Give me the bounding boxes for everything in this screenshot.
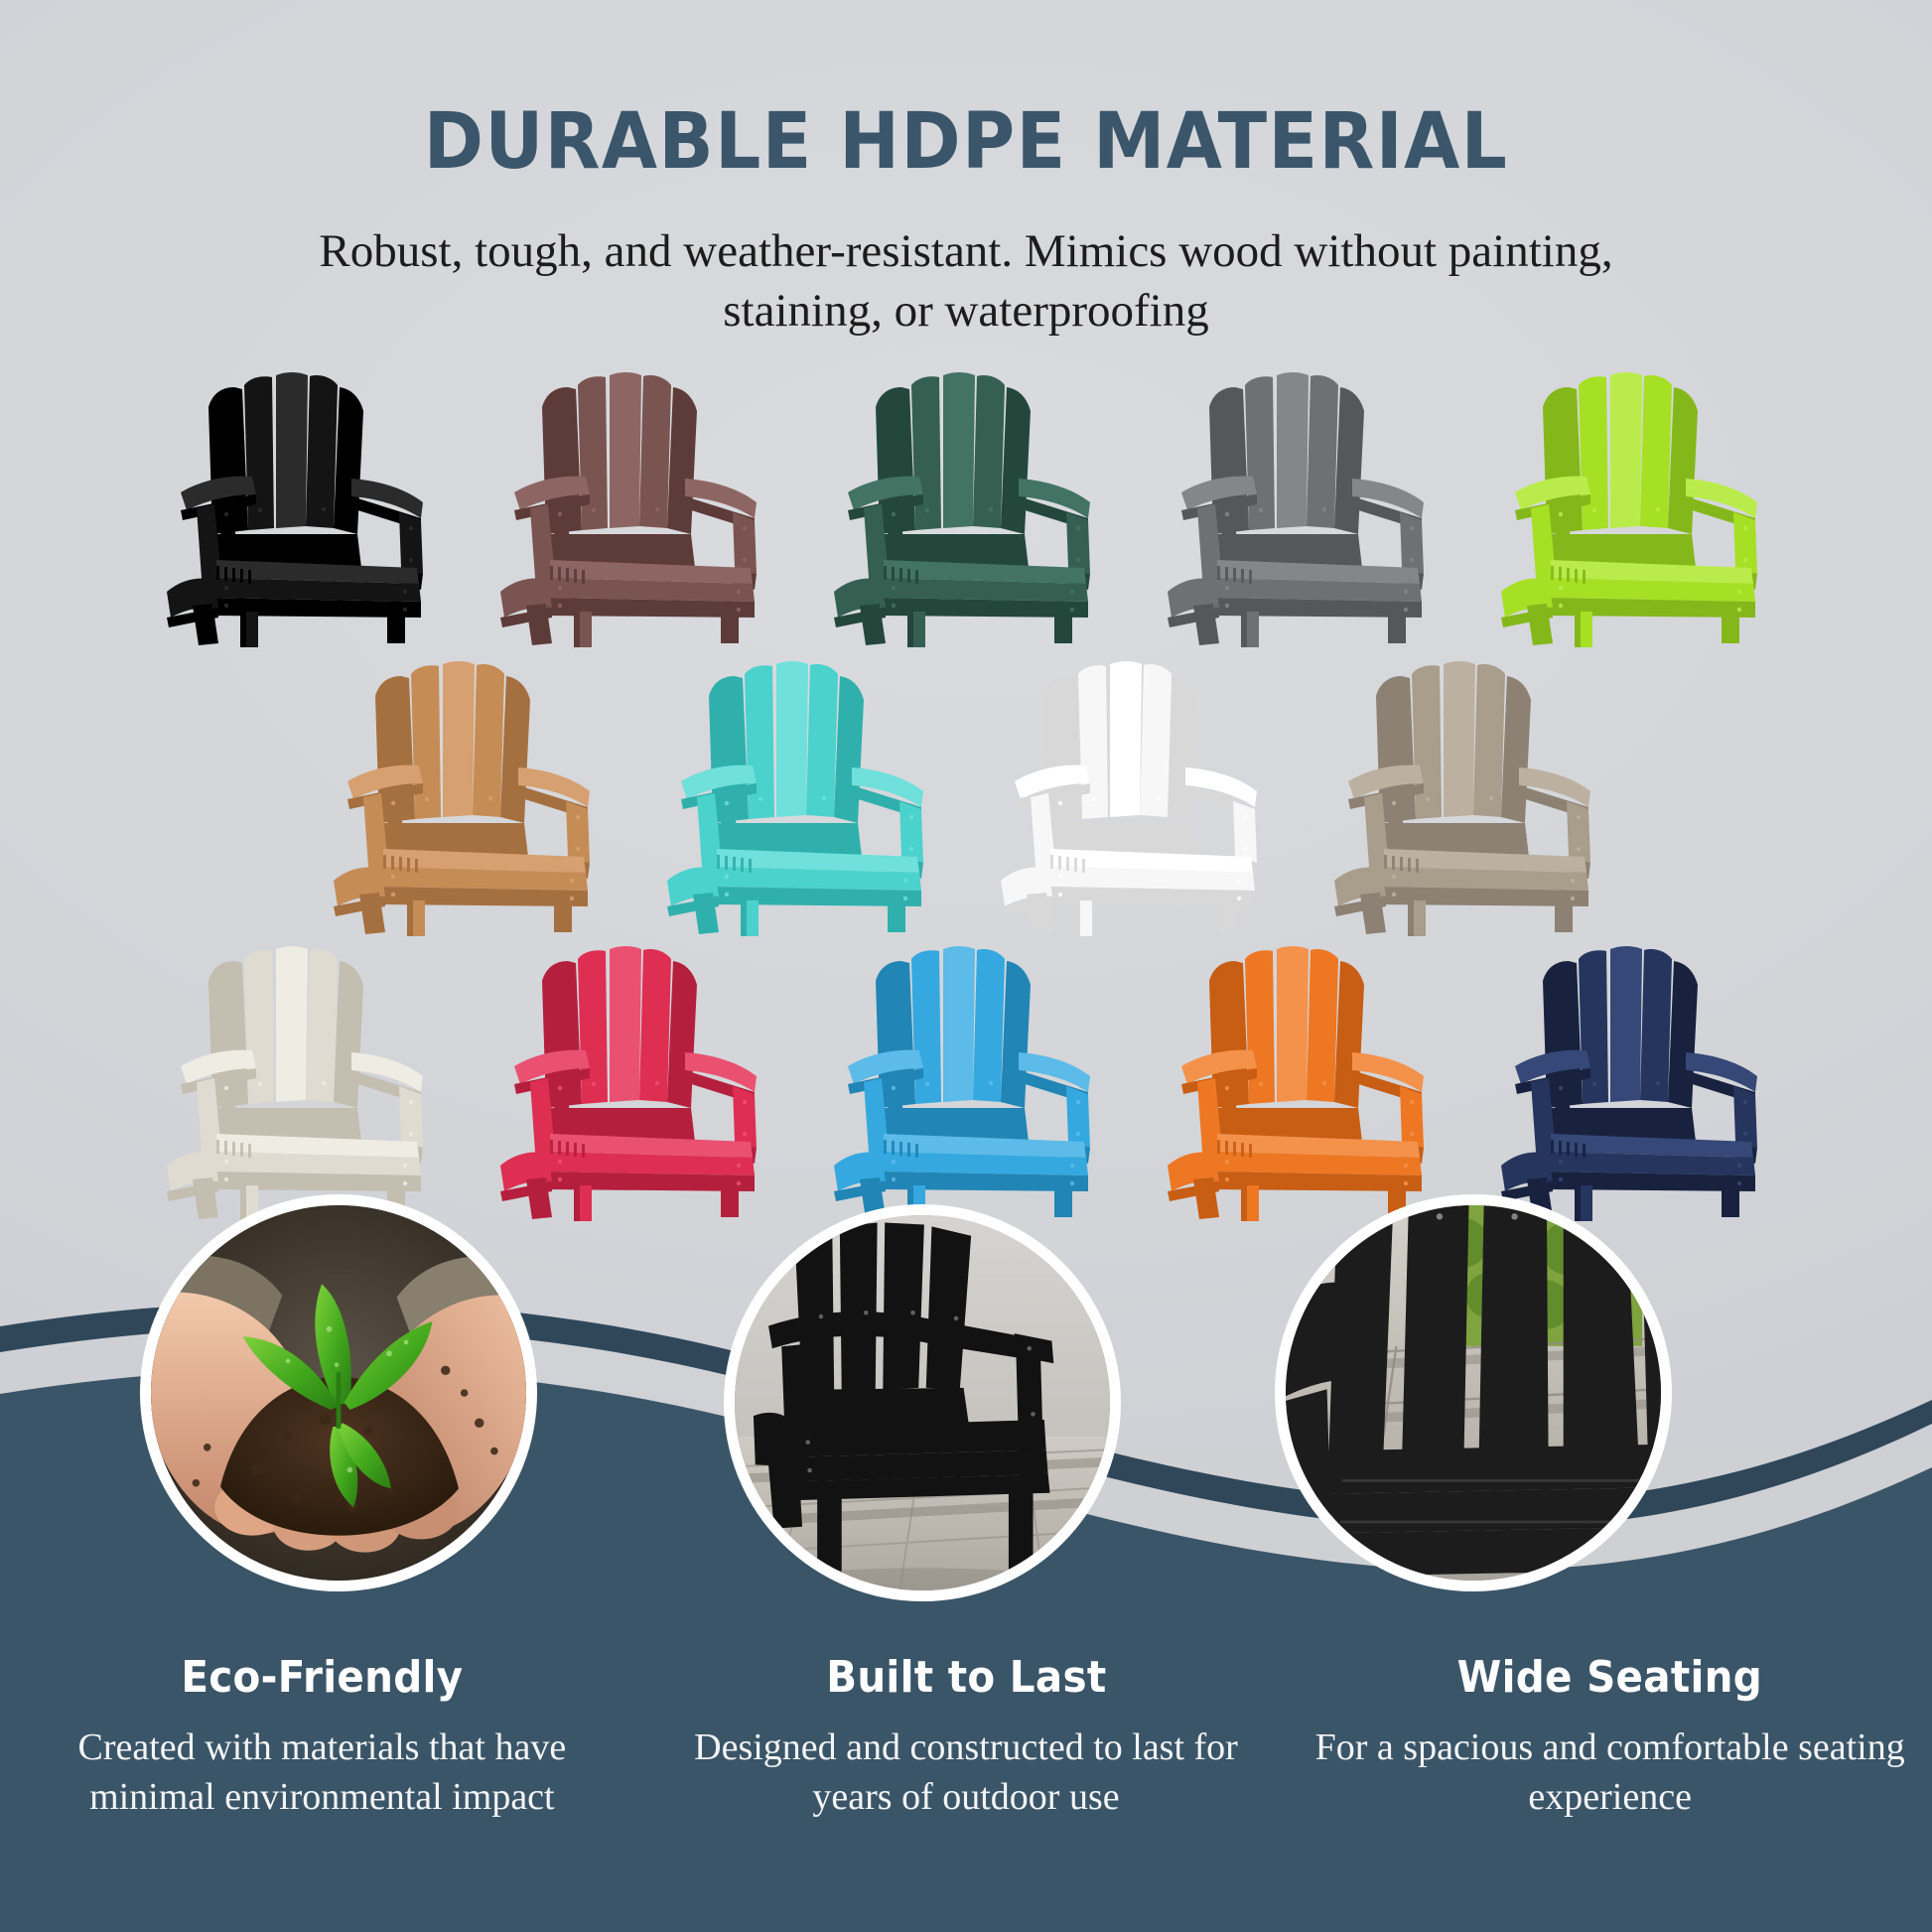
chair-gray <box>1158 363 1442 647</box>
feature-title-wide-seating: Wide Seating <box>1334 1652 1886 1703</box>
feature-image-eco-friendly <box>140 1194 537 1591</box>
chair-swatch-gray[interactable] <box>1158 363 1442 647</box>
chair-red <box>490 937 774 1221</box>
feature-column-wide-seating: Wide Seating For a spacious and comforta… <box>1288 1652 1932 1822</box>
chair-swatch-teak[interactable] <box>324 652 608 936</box>
chair-swatch-brown[interactable] <box>490 363 774 647</box>
header: DURABLE HDPE MATERIAL Robust, tough, and… <box>0 0 1932 341</box>
chair-ivory <box>157 937 441 1221</box>
chair-black <box>157 363 441 647</box>
chair-swatch-dark-green[interactable] <box>824 363 1108 647</box>
feature-image-wide-seating <box>1275 1194 1672 1591</box>
feature-description-eco-friendly: Created with materials that have minimal… <box>22 1723 622 1822</box>
chair-swatch-red[interactable] <box>490 937 774 1221</box>
feature-title-eco-friendly: Eco-Friendly <box>46 1652 598 1703</box>
chair-swatch-light-blue[interactable] <box>824 937 1108 1221</box>
chair-swatch-ivory[interactable] <box>157 937 441 1221</box>
chair-swatch-turquoise[interactable] <box>657 652 941 936</box>
chair-swatch-white[interactable] <box>991 652 1275 936</box>
page-title: DURABLE HDPE MATERIAL <box>68 103 1864 181</box>
chair-swatch-navy-blue[interactable] <box>1491 937 1775 1221</box>
chair-row-2 <box>0 652 1932 936</box>
chair-lime-green <box>1491 363 1775 647</box>
seedling-in-hands-photo <box>151 1205 526 1581</box>
feature-column-built-to-last: Built to Last Designed and constructed t… <box>644 1652 1289 1822</box>
chair-row-1 <box>0 363 1932 647</box>
chair-light-blue <box>824 937 1108 1221</box>
chair-weathered-wood <box>1324 652 1608 936</box>
feature-description-built-to-last: Designed and constructed to last for yea… <box>666 1723 1267 1822</box>
black-chair-on-patio-photo <box>735 1215 1110 1590</box>
feature-column-eco-friendly: Eco-Friendly Created with materials that… <box>0 1652 644 1822</box>
page-subtitle: Robust, tough, and weather-resistant. Mi… <box>291 222 1641 341</box>
chair-swatch-black[interactable] <box>157 363 441 647</box>
chair-row-3 <box>0 937 1932 1221</box>
chair-back-closeup-photo <box>1286 1205 1661 1581</box>
feature-description-wide-seating: For a spacious and comfortable seating e… <box>1310 1723 1910 1822</box>
feature-image-built-to-last <box>724 1204 1121 1601</box>
chair-dark-green <box>824 363 1108 647</box>
chair-swatch-orange[interactable] <box>1158 937 1442 1221</box>
chair-swatch-weathered-wood[interactable] <box>1324 652 1608 936</box>
chair-brown <box>490 363 774 647</box>
chair-swatch-lime-green[interactable] <box>1491 363 1775 647</box>
chair-teak <box>324 652 608 936</box>
chair-orange <box>1158 937 1442 1221</box>
chair-navy-blue <box>1491 937 1775 1221</box>
chair-turquoise <box>657 652 941 936</box>
chair-white <box>991 652 1275 936</box>
features-section: Eco-Friendly Created with materials that… <box>0 1652 1932 1822</box>
feature-title-built-to-last: Built to Last <box>690 1652 1242 1703</box>
